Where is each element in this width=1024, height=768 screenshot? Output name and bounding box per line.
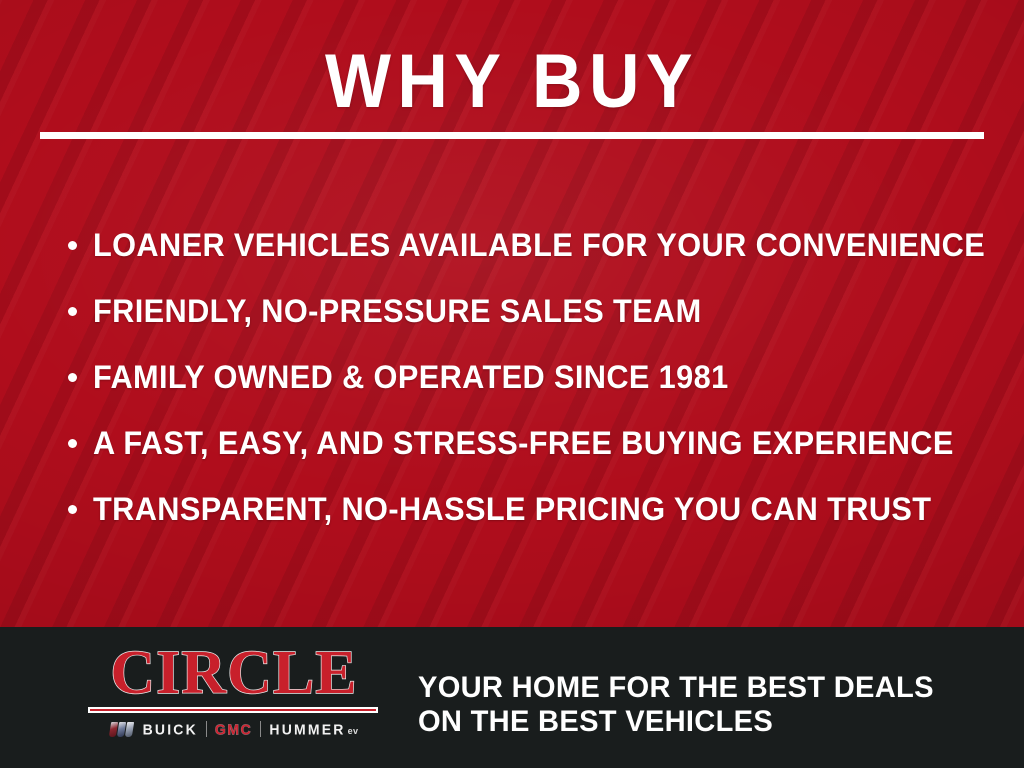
dealer-wordmark: CIRCLE (88, 641, 380, 705)
tagline-line-1: YOUR HOME FOR THE BEST DEALS (418, 671, 934, 705)
bullet-dot-icon (68, 505, 77, 514)
logo-divider (88, 707, 378, 713)
bullet-dot-icon (68, 307, 77, 316)
footer-tagline: YOUR HOME FOR THE BEST DEALS ON THE BEST… (418, 671, 934, 739)
brand-label-buick: BUICK (143, 721, 198, 737)
list-item: FAMILY OWNED & OPERATED SINCE 1981 (62, 344, 982, 410)
brand-separator (206, 721, 207, 737)
list-item-label: FAMILY OWNED & OPERATED SINCE 1981 (93, 360, 729, 394)
list-item-label: FRIENDLY, NO-PRESSURE SALES TEAM (93, 294, 702, 328)
title-divider (40, 132, 984, 139)
brand-separator (260, 721, 261, 737)
list-item-label: TRANSPARENT, NO-HASSLE PRICING YOU CAN T… (93, 492, 931, 526)
list-item-label: A FAST, EASY, AND STRESS-FREE BUYING EXP… (93, 426, 954, 460)
footer-bar: CIRCLE BUICK GMC HUMMER ev YOUR HOME FOR… (0, 627, 1024, 768)
brand-label-hummer: HUMMER (269, 721, 345, 737)
list-item: TRANSPARENT, NO-HASSLE PRICING YOU CAN T… (62, 476, 982, 542)
why-buy-slide: WHY BUY LOANER VEHICLES AVAILABLE FOR YO… (0, 0, 1024, 768)
list-item: A FAST, EASY, AND STRESS-FREE BUYING EXP… (62, 410, 982, 476)
bullet-dot-icon (68, 373, 77, 382)
list-item: FRIENDLY, NO-PRESSURE SALES TEAM (62, 278, 982, 344)
brand-strip: BUICK GMC HUMMER ev (88, 720, 380, 738)
list-item: LOANER VEHICLES AVAILABLE FOR YOUR CONVE… (62, 212, 982, 278)
page-title: WHY BUY (41, 42, 983, 122)
benefits-list: LOANER VEHICLES AVAILABLE FOR YOUR CONVE… (62, 212, 982, 542)
dealer-logo: CIRCLE BUICK GMC HUMMER ev (88, 641, 380, 738)
tagline-line-2: ON THE BEST VEHICLES (418, 705, 934, 739)
brand-label-gmc: GMC (215, 721, 252, 737)
bullet-dot-icon (68, 241, 77, 250)
buick-tri-shield-icon (110, 722, 134, 737)
bullet-dot-icon (68, 439, 77, 448)
brand-label-hummer-ev: ev (348, 726, 359, 736)
list-item-label: LOANER VEHICLES AVAILABLE FOR YOUR CONVE… (93, 228, 985, 262)
